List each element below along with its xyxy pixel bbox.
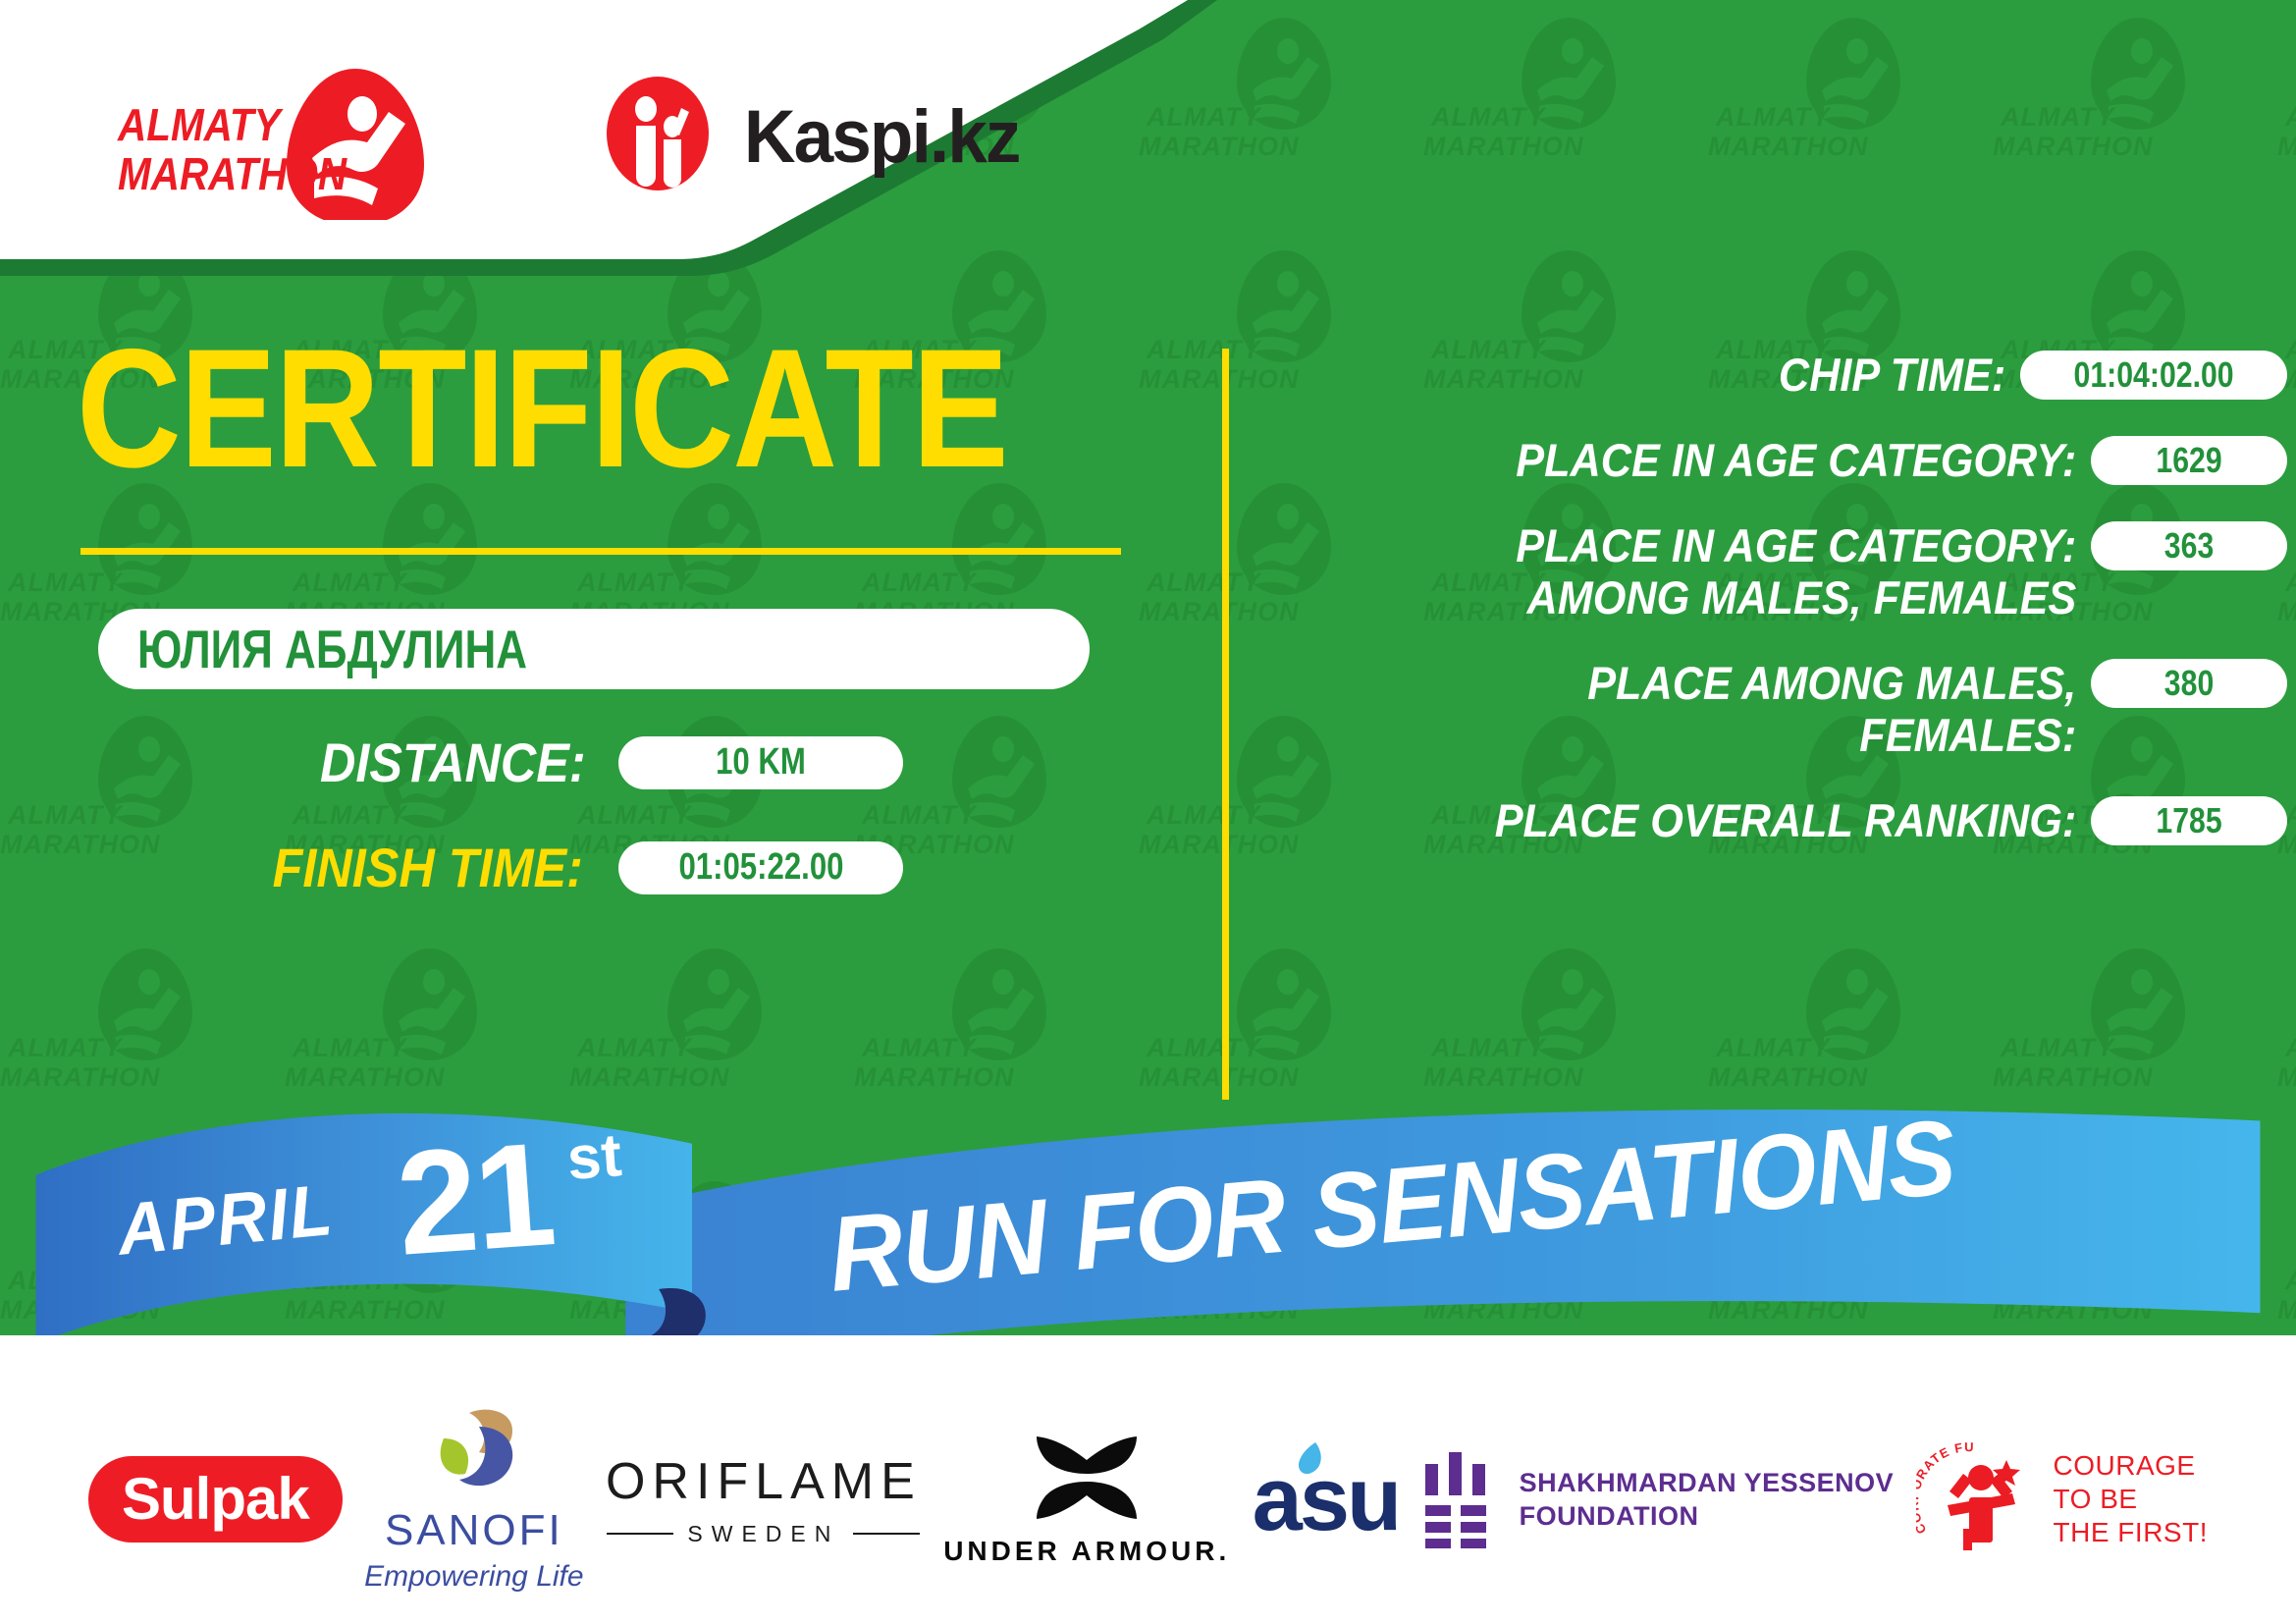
column-divider [1222, 349, 1229, 1100]
oriflame-tagline: SWEDEN [687, 1521, 839, 1547]
yessenov-bars-icon [1421, 1450, 1494, 1548]
almaty-marathon-logo: ALMATY MARATHON [118, 63, 442, 210]
sponsor-under-armour: UNDER ARMOUR. [943, 1433, 1230, 1567]
title-underline [80, 548, 1121, 555]
chip-time-row: CHIP TIME: 01:04:02.00 [1247, 349, 2287, 401]
finish-time-label: FINISH TIME: [273, 836, 583, 899]
sanofi-wordmark: SANOFI [364, 1506, 583, 1555]
courage-fund-tagline: COURAGE TO BE THE FIRST! [2054, 1449, 2208, 1549]
place-age-category-row: PLACE IN AGE CATEGORY: 1629 [1247, 434, 2287, 486]
place-overall-label: PLACE OVERALL RANKING: [1314, 794, 2091, 846]
place-among-gender-row: PLACE AMONG MALES, FEMALES: 380 [1247, 657, 2287, 761]
sponsor-sulpak: Sulpak [88, 1456, 343, 1543]
chip-time-value: 01:04:02.00 [2073, 354, 2233, 396]
finish-time-row: FINISH TIME: 01:05:22.00 [0, 836, 1207, 899]
sanofi-tagline: Empowering Life [364, 1560, 583, 1594]
almaty-marathon-line2: MARATHON [118, 149, 347, 198]
participant-name-field: ЮЛИЯ АБДУЛИНА [98, 609, 1090, 689]
oriflame-rule-right [853, 1533, 920, 1535]
certificate-title: CERTIFICATE [77, 324, 1049, 493]
oriflame-wordmark: ORIFLAME [606, 1452, 922, 1511]
ribbon-day: 21 [392, 1109, 558, 1289]
place-among-gender-value-pill: 380 [2091, 659, 2287, 708]
sponsor-row: Sulpak SANOFI Empowering Life ORIFLAME S… [0, 1375, 2296, 1624]
asu-drop-icon [1294, 1440, 1327, 1482]
courage-fund-icon: CORPORATE FUND [1916, 1440, 2042, 1558]
header-logos: ALMATY MARATHON Kaspi.kz [0, 0, 1178, 273]
finish-time-value-pill: 01:05:22.00 [618, 841, 903, 894]
sponsor-sanofi: SANOFI Empowering Life [364, 1405, 583, 1594]
place-age-category-value: 1629 [2156, 440, 2221, 481]
distance-value: 10 KM [716, 741, 806, 784]
oriflame-rule-left [607, 1533, 673, 1535]
place-age-category-gender-row: PLACE IN AGE CATEGORY: AMONG MALES, FEMA… [1247, 519, 2287, 623]
chip-time-label: CHIP TIME: [1308, 349, 2020, 401]
under-armour-wordmark: UNDER ARMOUR. [943, 1536, 1230, 1567]
right-column: CHIP TIME: 01:04:02.00 PLACE IN AGE CATE… [1247, 349, 2287, 880]
place-age-category-gender-label: PLACE IN AGE CATEGORY: AMONG MALES, FEMA… [1314, 519, 2091, 623]
place-age-category-gender-value: 363 [2164, 525, 2214, 567]
kaspi-people-icon [599, 73, 717, 200]
distance-row: DISTANCE: 10 KM [0, 731, 1207, 794]
place-among-gender-value: 380 [2164, 663, 2214, 704]
kaspi-logo: Kaspi.kz [599, 73, 1025, 200]
left-column: CERTIFICATE ЮЛИЯ АБДУЛИНА DISTANCE: 10 K… [0, 324, 1207, 899]
sulpak-wordmark: Sulpak [88, 1456, 343, 1543]
certificate-root: ALMATY MARATHON AL [0, 0, 2296, 1624]
distance-value-pill: 10 KM [618, 736, 903, 789]
sponsor-yessenov-foundation: SHAKHMARDAN YESSENOV FOUNDATION [1421, 1450, 1895, 1548]
distance-label: DISTANCE: [320, 731, 586, 794]
place-age-category-value-pill: 1629 [2091, 436, 2287, 485]
sanofi-mark-icon [410, 1405, 538, 1495]
under-armour-icon [1003, 1433, 1170, 1523]
sponsor-asu: asu [1253, 1454, 1400, 1544]
place-among-gender-label: PLACE AMONG MALES, FEMALES: [1314, 657, 2091, 761]
yessenov-wordmark: SHAKHMARDAN YESSENOV FOUNDATION [1520, 1466, 1895, 1533]
sponsor-oriflame: ORIFLAME SWEDEN [606, 1452, 922, 1547]
almaty-marathon-line1: ALMATY [118, 100, 347, 149]
participant-name-value: ЮЛИЯ АБДУЛИНА [137, 618, 527, 680]
place-overall-row: PLACE OVERALL RANKING: 1785 [1247, 794, 2287, 846]
finish-time-value: 01:05:22.00 [678, 846, 843, 889]
place-age-category-label: PLACE IN AGE CATEGORY: [1314, 434, 2091, 486]
chip-time-value-pill: 01:04:02.00 [2020, 351, 2287, 400]
place-age-category-gender-value-pill: 363 [2091, 521, 2287, 570]
place-overall-value: 1785 [2156, 800, 2221, 841]
place-overall-value-pill: 1785 [2091, 796, 2287, 845]
ribbon-ordinal: st [565, 1120, 624, 1194]
kaspi-wordmark: Kaspi.kz [744, 94, 1020, 180]
almaty-marathon-wordmark: ALMATY MARATHON [118, 100, 347, 198]
sponsor-courage-fund: CORPORATE FUND COURAGE TO BE THE FIRST! [1916, 1440, 2208, 1558]
